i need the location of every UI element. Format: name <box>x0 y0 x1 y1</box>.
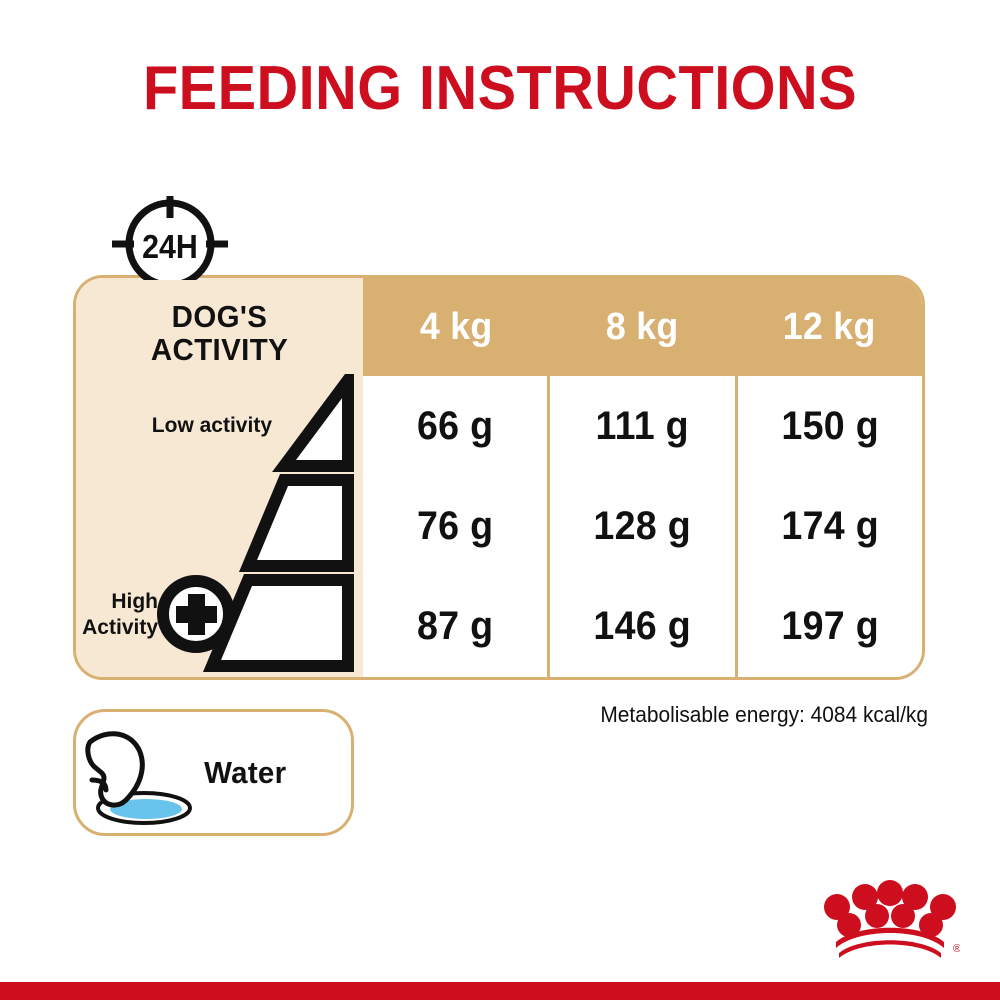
feeding-values-area: 4 kg 8 kg 12 kg 66 g 76 g 87 g 111 g 128… <box>363 278 922 677</box>
svg-text:Low activity: Low activity <box>152 414 273 437</box>
weight-header-cell: 8 kg <box>555 278 730 376</box>
registered-mark: ® <box>953 943 960 955</box>
feeding-table: DOG'S ACTIVITY Low activity High Activit… <box>73 275 925 680</box>
activity-header-line2: ACTIVITY <box>83 333 356 366</box>
svg-text:High: High <box>111 590 158 613</box>
water-label: Water <box>204 755 286 791</box>
data-cell: 76 g <box>369 476 542 576</box>
data-cell: 66 g <box>369 376 542 476</box>
dogs-activity-panel: DOG'S ACTIVITY Low activity High Activit… <box>76 278 363 677</box>
data-cell: 197 g <box>743 577 916 677</box>
data-column-4kg: 66 g 76 g 87 g <box>363 376 547 677</box>
weight-header-cell: 12 kg <box>741 278 916 376</box>
water-box: Water <box>73 709 354 836</box>
data-column-8kg: 111 g 128 g 146 g <box>547 376 734 677</box>
royal-canin-crown-logo: ® <box>820 880 960 960</box>
activity-header-line1: DOG'S <box>83 300 356 333</box>
data-cell: 174 g <box>743 476 916 576</box>
data-cell: 128 g <box>556 476 729 576</box>
bottom-red-bar <box>0 982 1000 1000</box>
feeding-data-body: 66 g 76 g 87 g 111 g 128 g 146 g 150 g 1… <box>363 376 922 677</box>
clock-24h-icon: 24H <box>112 196 228 280</box>
page-title: FEEDING INSTRUCTIONS <box>35 58 965 120</box>
svg-text:24H: 24H <box>142 228 198 265</box>
svg-text:Activity: Activity <box>82 616 158 639</box>
dog-drinking-water-icon <box>82 718 202 828</box>
data-cell: 111 g <box>556 376 729 476</box>
data-cell: 87 g <box>369 577 542 677</box>
data-column-12kg: 150 g 174 g 197 g <box>735 376 922 677</box>
data-cell: 146 g <box>556 577 729 677</box>
activity-level-icon: Low activity High Activity <box>76 374 363 674</box>
weight-header-cell: 4 kg <box>369 278 544 376</box>
data-cell: 150 g <box>743 376 916 476</box>
dogs-activity-header: DOG'S ACTIVITY <box>83 300 356 367</box>
weight-header-row: 4 kg 8 kg 12 kg <box>363 278 922 376</box>
